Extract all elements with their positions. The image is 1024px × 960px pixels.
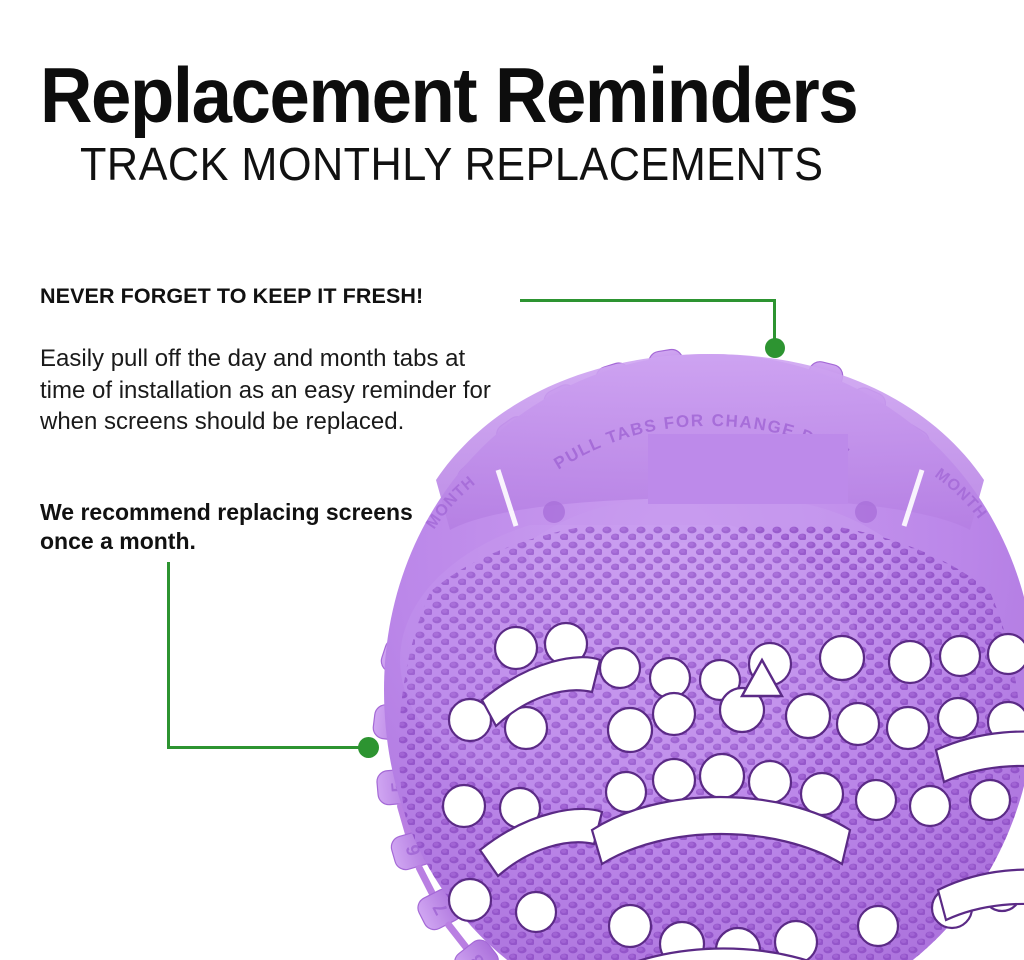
callout-heading-keep-fresh: NEVER FORGET TO KEEP IT FRESH! bbox=[40, 283, 423, 309]
connector-line-vertical-2 bbox=[167, 562, 170, 749]
callout-heading-replace-monthly: We recommend replacing screens once a mo… bbox=[40, 498, 440, 556]
page-title: Replacement Reminders bbox=[40, 56, 924, 134]
pin-hole-right bbox=[855, 501, 877, 523]
connector-dot-2 bbox=[358, 737, 379, 758]
page-subtitle: TRACK MONTHLY REPLACEMENTS bbox=[80, 139, 926, 189]
connector-line-horizontal-2 bbox=[167, 746, 367, 749]
connector-dot-1 bbox=[765, 338, 785, 358]
connector-line-horizontal-1 bbox=[520, 299, 776, 302]
pin-hole-left bbox=[543, 501, 565, 523]
poster-canvas: J F M A bbox=[0, 0, 1024, 960]
callout-body-keep-fresh: Easily pull off the day and month tabs a… bbox=[40, 343, 492, 438]
redaction-block bbox=[648, 434, 848, 504]
